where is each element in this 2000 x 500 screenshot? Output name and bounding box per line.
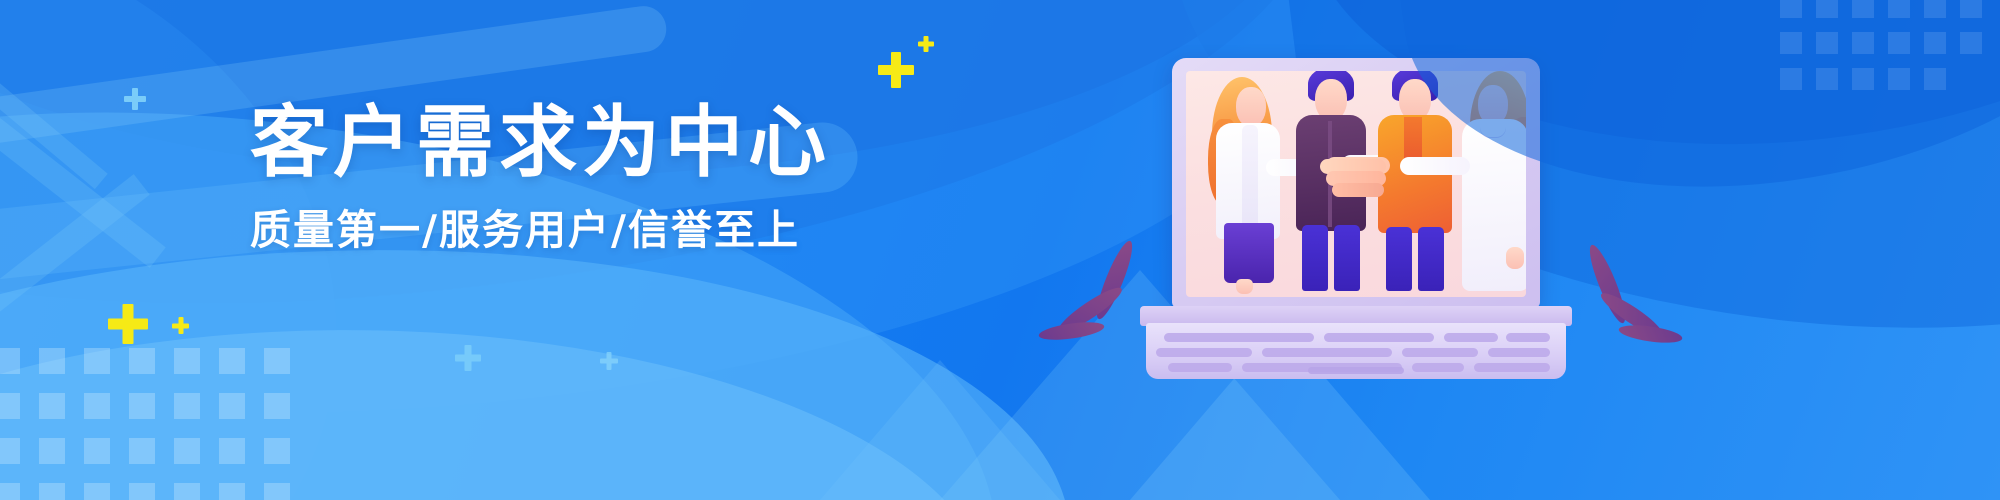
keyboard-key [1164, 333, 1314, 342]
leg-right [1334, 225, 1360, 291]
grid-square [84, 348, 110, 374]
plus-yellow-top-small-icon [918, 36, 934, 52]
plus-yellow-big-icon [108, 304, 148, 344]
laptop-trackpad [1308, 367, 1404, 374]
shard-lower [0, 174, 150, 324]
keyboard-key [1324, 333, 1434, 342]
grid-square [129, 438, 155, 464]
plus-cyan-left-icon [124, 88, 146, 110]
grid-square [39, 438, 65, 464]
grid-square [129, 348, 155, 374]
grid-square [39, 393, 65, 419]
grid-square [84, 483, 110, 500]
grid-square [0, 438, 20, 464]
person-woman-left [1208, 73, 1294, 297]
keyboard-row-2 [1146, 348, 1566, 357]
grid-square [84, 393, 110, 419]
keyboard-key [1156, 348, 1252, 357]
hand [1506, 247, 1524, 269]
grid-square [39, 483, 65, 500]
grid-square [264, 438, 290, 464]
grid-square [219, 438, 245, 464]
keyboard-key [1474, 363, 1550, 372]
grid-square [129, 483, 155, 500]
keyboard-key [1444, 333, 1498, 342]
grid-square [219, 348, 245, 374]
banner-text-block: 客户需求为中心 质量第一/服务用户/信誉至上 [250, 104, 870, 254]
plus-yellow-small-icon [172, 317, 189, 334]
keyboard-key [1262, 348, 1392, 357]
grid-square [264, 483, 290, 500]
grid-square [84, 438, 110, 464]
grid-square [0, 483, 20, 500]
keyboard-key [1488, 348, 1550, 357]
leaf-left-3 [1038, 319, 1105, 343]
banner-subheadline: 质量第一/服务用户/信誉至上 [250, 208, 870, 254]
keyboard-row-1 [1146, 333, 1566, 342]
leg-left [1302, 225, 1328, 291]
keyboard-key [1168, 363, 1232, 372]
plus-cyan-mid-icon [455, 345, 481, 371]
banner-headline: 客户需求为中心 [250, 104, 870, 182]
grid-square [219, 483, 245, 500]
shard-upper [0, 118, 166, 268]
foot [1236, 279, 1253, 294]
skirt [1224, 223, 1274, 283]
mountain-shape-small [820, 360, 1060, 500]
promotional-banner: 客户需求为中心 质量第一/服务用户/信誉至上 [0, 0, 2000, 500]
grid-square [174, 438, 200, 464]
keyboard-key [1412, 363, 1464, 372]
plus-yellow-top-icon [878, 52, 914, 88]
head [1236, 87, 1266, 127]
grid-square [264, 393, 290, 419]
leg-right [1418, 227, 1444, 291]
grid-square [174, 393, 200, 419]
laptop-keyboard-deck [1146, 323, 1566, 379]
square-grid-bottom-left [0, 348, 290, 500]
plus-cyan-low-icon [600, 352, 618, 370]
leg-left [1386, 227, 1412, 291]
grid-square [0, 348, 20, 374]
keyboard-key [1402, 348, 1478, 357]
grid-square [264, 348, 290, 374]
hand-layer-3 [1332, 183, 1384, 197]
arm-reaching [1400, 157, 1470, 175]
grid-square [174, 348, 200, 374]
shard-top [0, 71, 108, 189]
grid-square [0, 393, 20, 419]
stacked-hands [1318, 159, 1394, 199]
grid-square [39, 348, 65, 374]
leaf-right-3 [1618, 322, 1683, 346]
grid-square [129, 393, 155, 419]
grid-square [174, 483, 200, 500]
keyboard-key [1506, 333, 1550, 342]
grid-square [219, 393, 245, 419]
